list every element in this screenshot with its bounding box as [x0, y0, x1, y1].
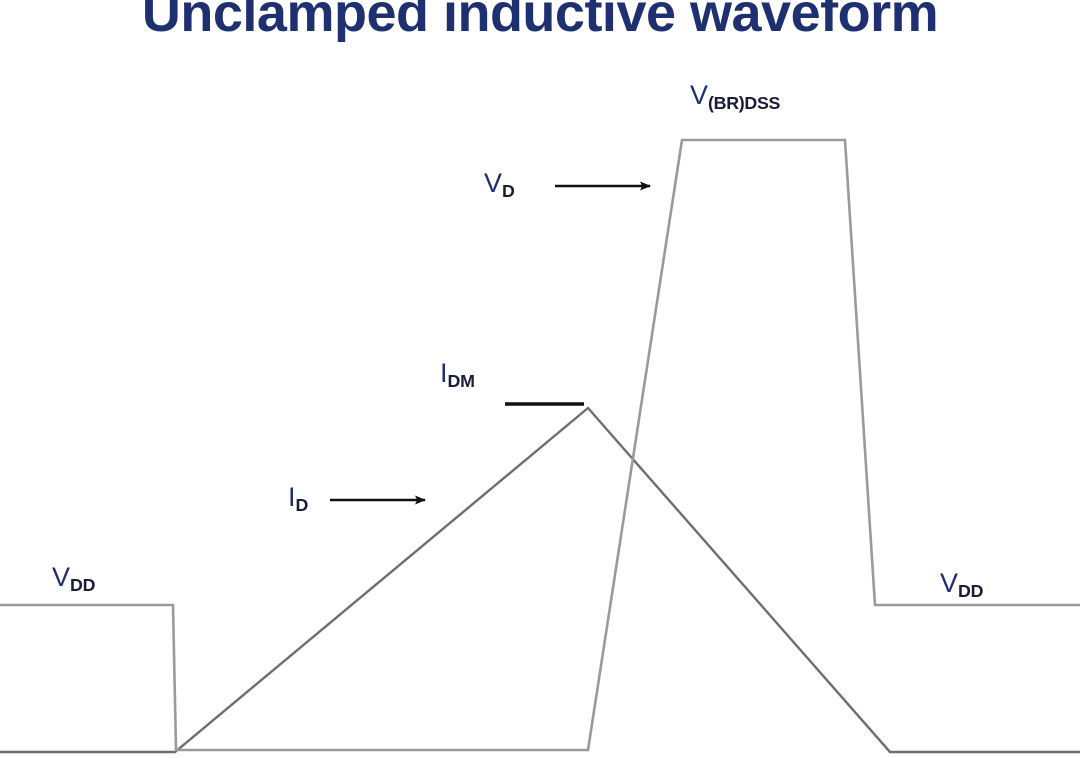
breakdown-voltage-label-base: V [690, 80, 708, 110]
peak-drain-current-label-sub: DM [448, 371, 475, 391]
supply-voltage-label-left: VDD [52, 564, 95, 591]
drain-voltage-label-sub: D [502, 181, 515, 201]
waveform-plot [0, 0, 1080, 758]
drain-current-label-sub: D [296, 495, 309, 515]
breakdown-voltage-label-sub: (BR)DSS [708, 93, 780, 113]
supply-voltage-label-right: VDD [940, 570, 983, 597]
current-waveform-id [0, 408, 1080, 752]
peak-drain-current-label-base: I [440, 358, 448, 388]
peak-drain-current-label: IDM [440, 360, 475, 387]
voltage-waveform-vd [0, 140, 1080, 750]
supply-voltage-label-right-sub: DD [958, 581, 983, 601]
drain-current-label-base: I [288, 482, 296, 512]
drain-voltage-label-base: V [484, 168, 502, 198]
drain-voltage-label: VD [484, 170, 515, 197]
supply-voltage-label-left-base: V [52, 562, 70, 592]
breakdown-voltage-label: V(BR)DSS [690, 82, 780, 109]
supply-voltage-label-right-base: V [940, 568, 958, 598]
supply-voltage-label-left-sub: DD [70, 575, 95, 595]
slide-canvas: Unclamped inductive waveform V(BR)DSS VD… [0, 0, 1080, 758]
drain-current-label: ID [288, 484, 308, 511]
